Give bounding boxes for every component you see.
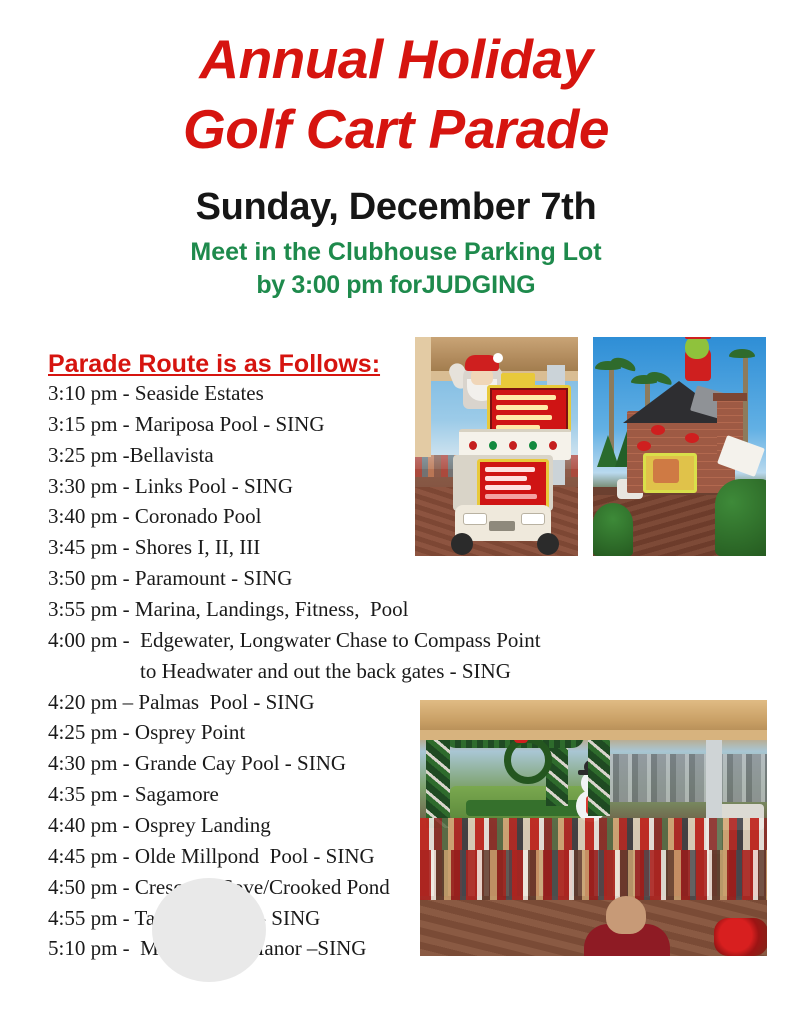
route-item-text: 4:45 pm - Olde Millpond Pool - SING [48,844,375,868]
meet-line-2-judging: JUDGING [422,271,536,299]
route-item-text: 4:40 pm - Osprey Landing [48,813,271,837]
photo-hedge [466,800,586,816]
photo-palm-frond [729,349,755,358]
photo-cart-sign-lower [477,459,549,509]
photo-cart-wheel-left [451,533,473,555]
photo-cart-headlight-left [463,513,487,525]
photo-decorated-cart-santa [415,337,578,556]
route-item-continuation: to Headwater and out the back gates - SI… [48,656,568,687]
route-item-text: 3:50 pm - Paramount - SING [48,566,292,590]
title-line-1: Annual Holiday [0,24,792,94]
photo-wreath [504,736,552,784]
page-title: Annual Holiday Golf Cart Parade [0,24,792,165]
route-item-text: 4:35 pm - Sagamore [48,782,219,806]
route-item-text: 3:55 pm - Marina, Landings, Fitness, Poo… [48,597,409,621]
photo-window-interior [653,459,679,483]
route-item: 3:55 pm - Marina, Landings, Fitness, Poo… [48,594,568,625]
photo-crowd-front-row [420,850,767,900]
photo-column-garland-left [426,736,450,828]
title-line-2: Golf Cart Parade [0,94,792,164]
photo-poinsettia [714,918,767,956]
route-item: 3:50 pm - Paramount - SING [48,563,568,594]
photo-grinch-brick-house-cart [593,337,766,556]
event-date: Sunday, December 7th [0,186,792,229]
route-item: 4:00 pm - Edgewater, Longwater Chase to … [48,625,568,687]
logo-background-oval [152,878,266,982]
photo-pavilion-ceiling [420,700,767,734]
photo-chimney-cap [713,393,747,401]
route-item-text: 3:45 pm - Shores I, II, III [48,535,260,559]
photo-red-bow [651,425,665,435]
route-item-text: 4:30 pm - Grande Cay Pool - SING [48,751,346,775]
photo-grinch-head [685,337,709,359]
flyer-page: Annual Holiday Golf Cart Parade Sunday, … [0,0,792,1024]
route-item-text: 3:10 pm - Seaside Estates [48,381,264,405]
photo-parade-crowd [420,700,767,956]
meet-line-2-time: by 3:00 pm for [256,271,421,299]
photo-column-garland-right [588,736,610,816]
photo-pavilion-post [415,337,431,457]
photo-ceiling-trim [420,730,767,740]
photo-parking-lot [600,754,767,802]
photo-red-bow [685,433,699,443]
photo-red-bow [637,441,651,451]
route-item-text: 4:20 pm – Palmas Pool - SING [48,690,315,714]
route-heading: Parade Route is as Follows: [48,350,380,379]
photo-santa-face [471,369,493,385]
route-item-text: 4:00 pm - Edgewater, Longwater Chase to … [48,628,541,652]
meet-line-1: Meet in the Clubhouse Parking Lot [0,236,792,269]
photo-cart-grille [489,521,515,531]
photo-shrub-left [593,503,633,556]
route-item-text: 3:25 pm -Bellavista [48,443,214,467]
photo-foreground-person-head [606,896,646,934]
meet-instructions: Meet in the Clubhouse Parking Lot by 3:0… [0,236,792,302]
photo-cart-headlight-right [521,513,545,525]
route-item-text: 4:25 pm - Osprey Point [48,720,245,744]
photo-cart-wheel-right [537,533,559,555]
route-item-text: 3:40 pm - Coronado Pool [48,504,262,528]
route-item-text: 3:30 pm - Links Pool - SING [48,474,293,498]
meet-line-2: by 3:00 pm forJUDGING [0,269,792,302]
photo-santa-hat-pompom [493,353,503,363]
photo-grinch-santa-hat [685,337,711,339]
santa-golf-cart-logo [152,878,266,982]
route-item-text: 3:15 pm - Mariposa Pool - SING [48,412,325,436]
photo-shrub-right [715,479,766,556]
